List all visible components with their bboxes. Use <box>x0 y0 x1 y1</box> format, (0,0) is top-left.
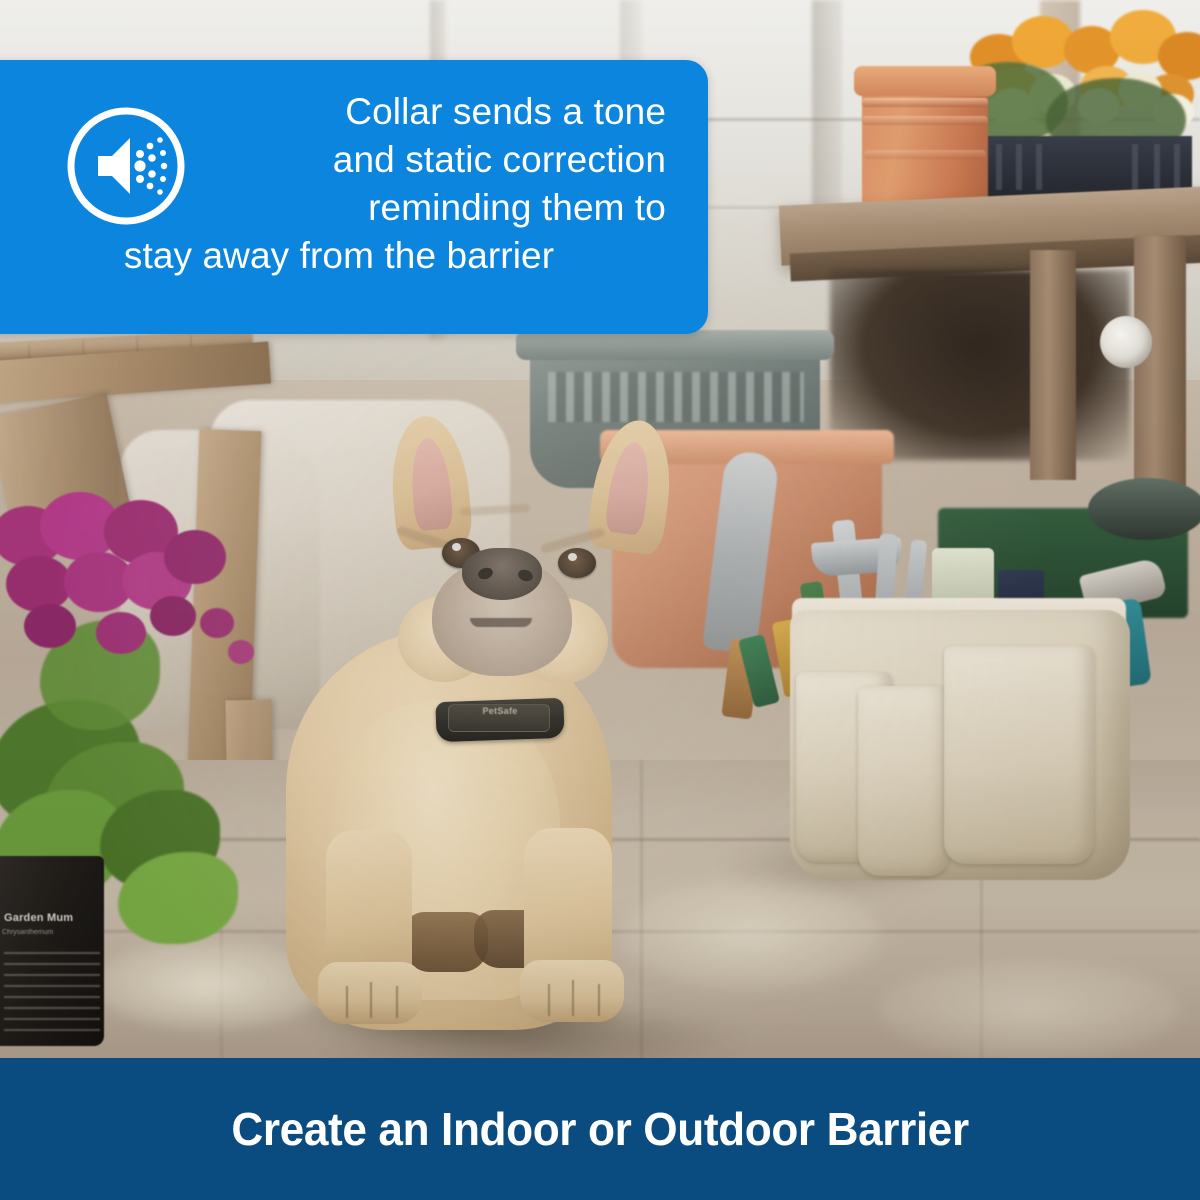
mum-bud <box>200 608 234 638</box>
pot-ridge <box>862 98 988 107</box>
stone-urn-relief <box>548 372 804 422</box>
wheelbarrow-wheel <box>1088 478 1200 540</box>
dog-eye-right <box>558 548 596 578</box>
pot-ridge <box>864 150 986 159</box>
terracotta-pot-rim <box>854 66 996 96</box>
mum-flower <box>96 612 146 654</box>
mum-flower <box>150 596 196 636</box>
mum-flower <box>164 530 226 584</box>
mum-flower <box>24 604 76 648</box>
dog-mouth <box>470 618 532 627</box>
feature-callout: Collar sends a tone and static correctio… <box>0 60 708 334</box>
mum-bud <box>228 640 254 664</box>
eye-shine <box>568 553 577 561</box>
callout-line-4: stay away from the barrier <box>12 232 666 280</box>
product-image-stage: Garden Mum Chrysanthemum <box>0 0 1200 1200</box>
callout-line-2: and static correction <box>22 136 666 184</box>
callout-text: Collar sends a tone and static correctio… <box>22 88 690 280</box>
bottom-banner: Create an Indoor or Outdoor Barrier <box>0 1058 1200 1200</box>
bench-leg <box>1030 250 1076 480</box>
mum-pot-label: Garden Mum <box>4 912 108 926</box>
banner-title: Create an Indoor or Outdoor Barrier <box>231 1102 968 1156</box>
callout-line-1: Collar sends a tone <box>22 88 666 136</box>
eye-shine <box>452 543 461 551</box>
tool-bag-pocket <box>858 686 950 876</box>
pot-ridge <box>862 116 988 125</box>
callout-line-3: reminding them to <box>22 184 666 232</box>
tape-roll <box>1100 316 1152 368</box>
mum-pot-sublabel: Chrysanthemum <box>2 928 106 938</box>
tool-bag-pocket <box>944 646 1094 864</box>
mum-flower <box>6 556 72 612</box>
mum-pot-text-lines <box>4 952 100 1036</box>
wall-post <box>812 0 842 230</box>
sunlight-patch <box>880 960 1180 1060</box>
collar-brand-text: PetSafe <box>458 706 542 716</box>
stone-urn-rim <box>516 330 834 360</box>
